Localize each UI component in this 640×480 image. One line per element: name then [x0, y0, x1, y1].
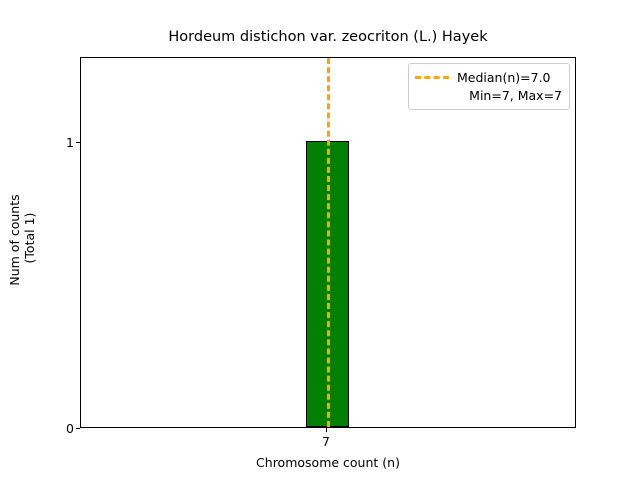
legend-entry-minmax: Min=7, Max=7	[415, 86, 563, 104]
y-tick-label-1: 1	[56, 135, 74, 150]
legend-label-median: Median(n)=7.0	[457, 70, 563, 85]
median-line	[327, 58, 330, 427]
y-axis-label-container: Num of counts (Total 1)	[0, 0, 44, 480]
x-tick-label-7: 7	[322, 434, 330, 449]
y-tick-label-0: 0	[56, 421, 74, 436]
plot-inner	[81, 58, 575, 427]
legend-entry-median: Median(n)=7.0	[415, 68, 563, 86]
legend-label-minmax: Min=7, Max=7	[415, 88, 563, 103]
x-axis-label: Chromosome count (n)	[80, 455, 576, 470]
dashed-line-icon	[415, 70, 449, 84]
page-title: Hordeum distichon var. zeocriton (L.) Ha…	[80, 28, 576, 46]
plot-area	[80, 57, 576, 428]
matplotlib-figure: Hordeum distichon var. zeocriton (L.) Ha…	[0, 0, 640, 480]
legend: Median(n)=7.0 Min=7, Max=7	[408, 63, 570, 110]
y-axis-label: Num of counts (Total 1)	[7, 194, 37, 285]
x-tick-mark-7	[326, 428, 327, 432]
